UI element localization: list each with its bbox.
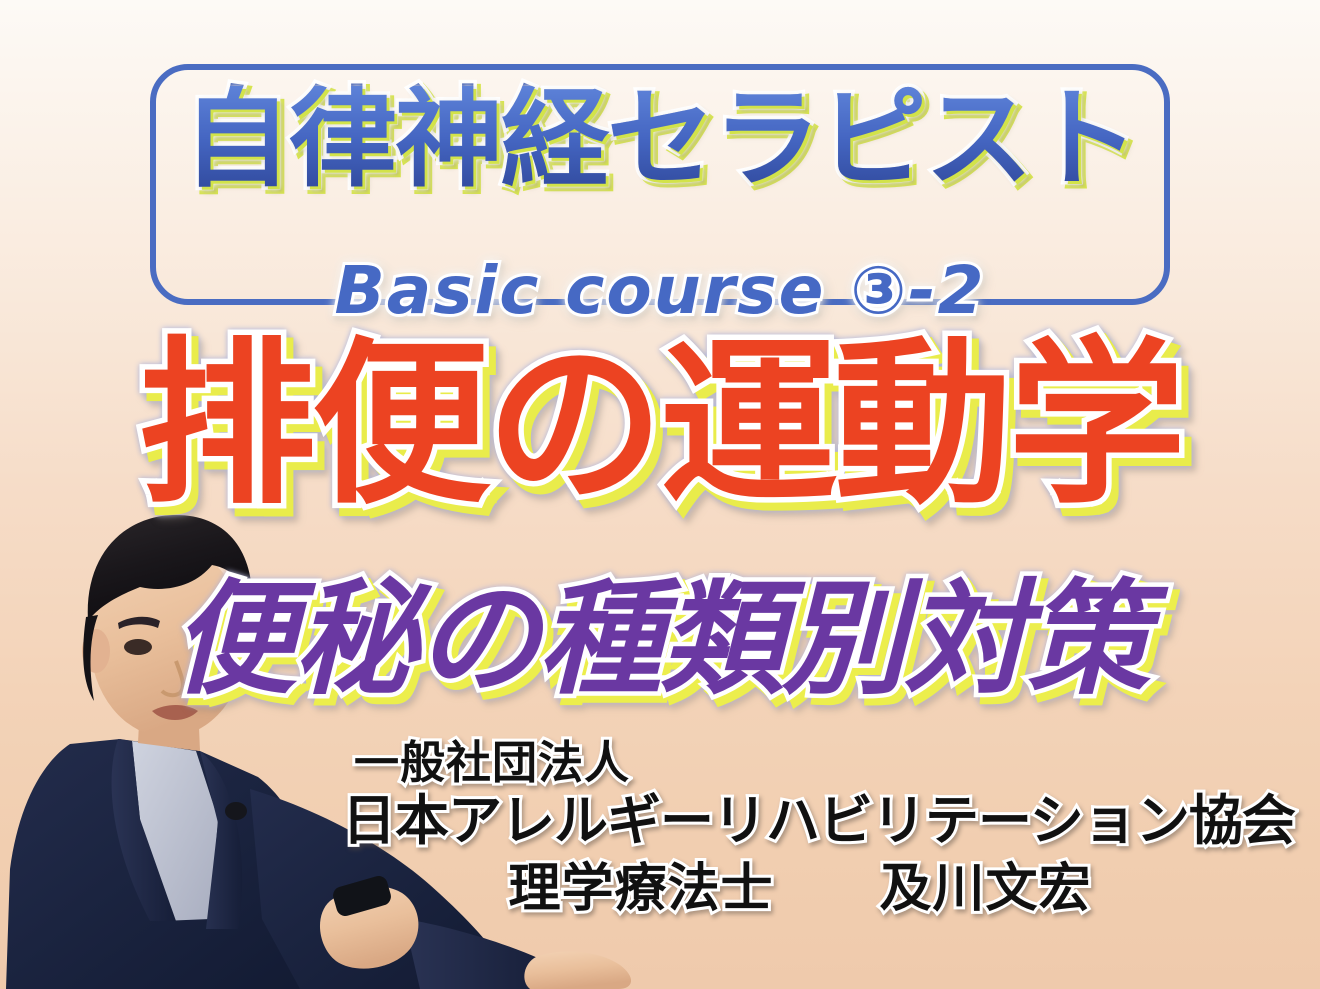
sub-title: 便秘の種類別対策 bbox=[172, 578, 1148, 702]
credit-org-type: 一般社団法人 bbox=[340, 736, 1260, 789]
eye-left bbox=[124, 639, 152, 655]
face bbox=[90, 545, 246, 737]
eyebrow-right bbox=[190, 618, 230, 632]
course-title: 自律神経セラピスト bbox=[156, 86, 1164, 194]
course-subtitle: Basic course ③-2 bbox=[156, 258, 1164, 324]
slide-canvas: 自律神経セラピスト 自律神経セラピスト Basic course ③-2 排便の… bbox=[0, 0, 1320, 989]
jacket-far-sleeve bbox=[404, 919, 556, 989]
nose bbox=[162, 661, 183, 695]
lapel-microphone bbox=[225, 802, 247, 820]
shirt bbox=[132, 741, 218, 921]
sub-title-container: 便秘の種類別対策 bbox=[0, 578, 1320, 702]
jacket-lapel-right bbox=[200, 751, 242, 929]
neck bbox=[138, 704, 200, 751]
eyebrow-left bbox=[118, 617, 160, 629]
hair bbox=[88, 515, 253, 621]
credits-block: 一般社団法人 日本アレルギーリハビリテーション協会 理学療法士 及川文宏 bbox=[340, 736, 1260, 920]
credit-org-name: 日本アレルギーリハビリテーション協会 bbox=[340, 789, 1260, 853]
hair-sideburn bbox=[83, 615, 98, 701]
ear bbox=[82, 629, 110, 673]
course-badge-box: 自律神経セラピスト 自律神経セラピスト Basic course ③-2 bbox=[150, 64, 1170, 305]
hand-right bbox=[524, 951, 631, 989]
main-title: 排便の運動学 bbox=[138, 336, 1182, 514]
eye-right bbox=[194, 638, 222, 654]
jacket-left bbox=[6, 739, 330, 989]
jacket-lapel-left bbox=[112, 739, 176, 921]
mouth bbox=[152, 705, 198, 720]
credit-person-name: 理学療法士 及川文宏 bbox=[340, 853, 1260, 920]
main-title-container: 排便の運動学 bbox=[0, 336, 1320, 514]
